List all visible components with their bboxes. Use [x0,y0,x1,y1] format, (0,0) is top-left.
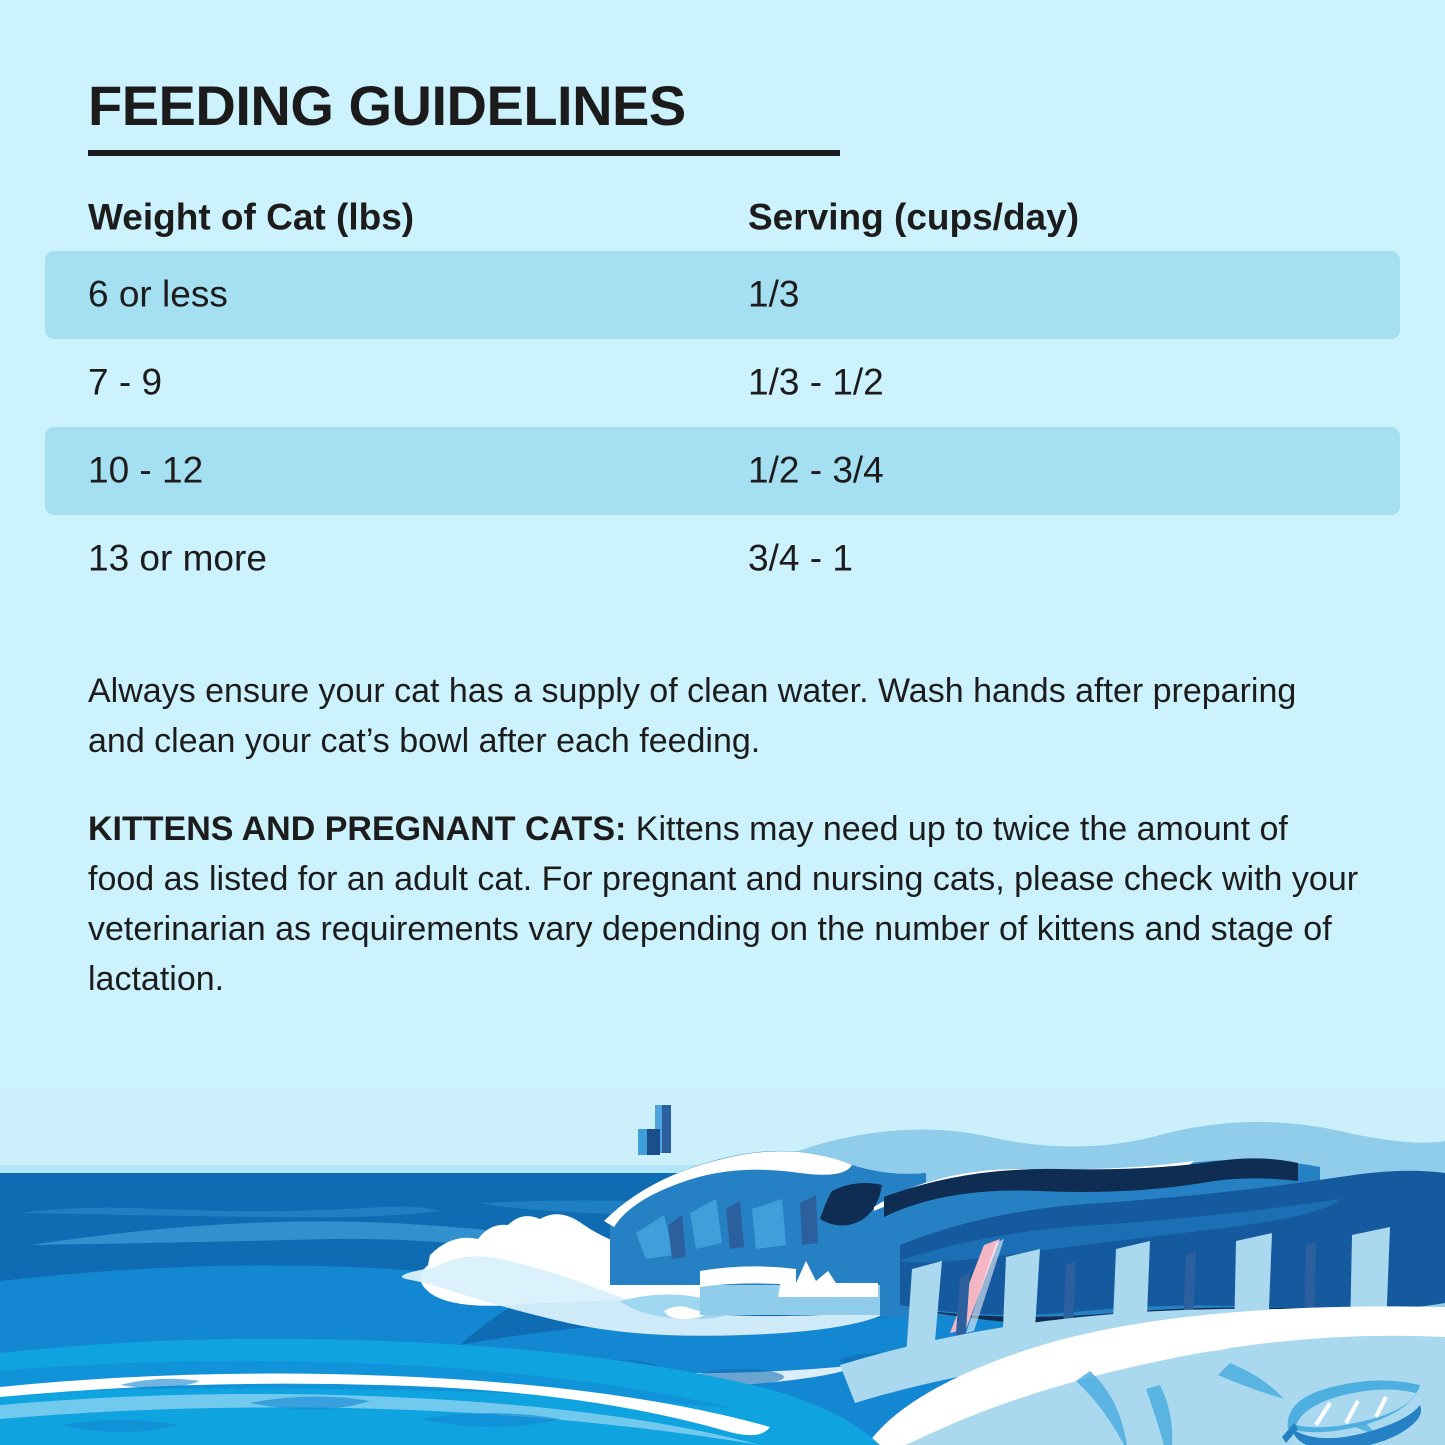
page-title: FEEDING GUIDELINES [88,78,686,134]
cell-serving: 3/4 - 1 [748,539,853,580]
cell-serving: 1/3 [748,275,799,316]
row-shade-band [45,251,1400,339]
title-underline-divider [88,150,840,156]
cell-weight: 10 - 12 [88,451,203,492]
table-row: 13 or more 3/4 - 1 [0,515,1445,603]
row-shade-band [45,427,1400,515]
table-row: 6 or less 1/3 [0,251,1445,339]
table-header-row: Weight of Cat (lbs) Serving (cups/day) [0,185,1445,251]
cell-serving: 1/3 - 1/2 [748,363,884,404]
cell-weight: 13 or more [88,539,267,580]
table-row: 10 - 12 1/2 - 3/4 [0,427,1445,515]
coastal-seascape-illustration [0,1085,1445,1445]
cell-weight: 6 or less [88,275,228,316]
column-header-weight: Weight of Cat (lbs) [88,198,414,239]
table-row: 7 - 9 1/3 - 1/2 [0,339,1445,427]
water-note-paragraph: Always ensure your cat has a supply of c… [88,667,1313,767]
cell-serving: 1/2 - 3/4 [748,451,884,492]
column-header-serving: Serving (cups/day) [748,198,1079,239]
kittens-note-label: KITTENS AND PREGNANT CATS: [88,810,626,848]
cell-weight: 7 - 9 [88,363,162,404]
feeding-guidelines-panel: FEEDING GUIDELINES Weight of Cat (lbs) S… [0,0,1445,1445]
kittens-note-paragraph: KITTENS AND PREGNANT CATS: Kittens may n… [88,805,1363,1005]
feeding-table: Weight of Cat (lbs) Serving (cups/day) 6… [0,185,1445,603]
